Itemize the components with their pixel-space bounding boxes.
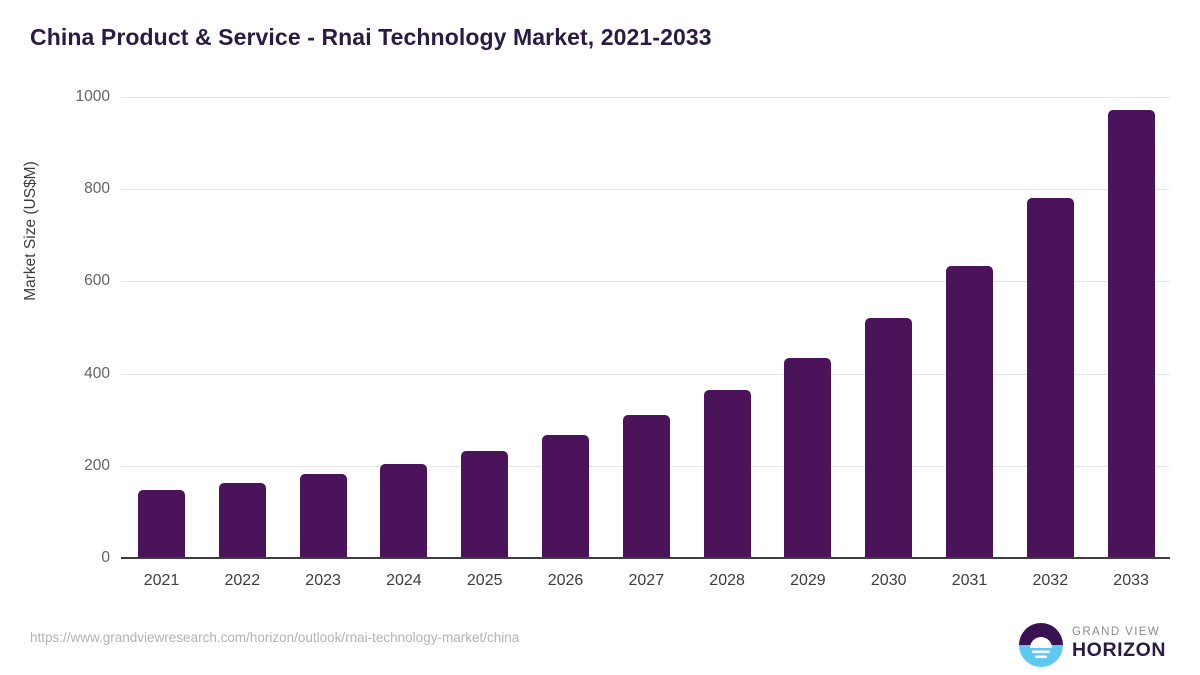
logo-line-grand-view: GRAND VIEW xyxy=(1072,625,1166,639)
x-tick-label-2023: 2023 xyxy=(283,572,363,590)
y-tick-label: 600 xyxy=(84,272,110,290)
x-tick-label-2033: 2033 xyxy=(1091,572,1171,590)
x-axis-line xyxy=(121,557,1170,559)
plot-area xyxy=(121,97,1170,558)
bar-2033[interactable] xyxy=(1108,110,1155,558)
y-tick-label: 1000 xyxy=(76,88,110,106)
grand-view-horizon-logo[interactable]: GRAND VIEW HORIZON xyxy=(1018,622,1170,668)
x-tick-label-2021: 2021 xyxy=(122,572,202,590)
bar-2022[interactable] xyxy=(219,483,266,558)
x-tick-label-2027: 2027 xyxy=(606,572,686,590)
page-title: China Product & Service - Rnai Technolog… xyxy=(30,24,712,51)
bar-2032[interactable] xyxy=(1027,198,1074,558)
gridline xyxy=(121,97,1170,98)
x-tick-label-2029: 2029 xyxy=(768,572,848,590)
x-tick-label-2024: 2024 xyxy=(364,572,444,590)
bar-2031[interactable] xyxy=(946,266,993,558)
x-tick-label-2030: 2030 xyxy=(849,572,929,590)
y-tick-label: 200 xyxy=(84,457,110,475)
bar-2029[interactable] xyxy=(784,358,831,558)
bar-2025[interactable] xyxy=(461,451,508,558)
x-tick-label-2022: 2022 xyxy=(202,572,282,590)
bar-2024[interactable] xyxy=(380,464,427,558)
y-axis-title: Market Size (US$M) xyxy=(22,31,40,431)
gridline xyxy=(121,374,1170,375)
bar-2021[interactable] xyxy=(138,490,185,558)
x-tick-label-2032: 2032 xyxy=(1010,572,1090,590)
y-tick-label: 400 xyxy=(84,365,110,383)
x-tick-label-2028: 2028 xyxy=(687,572,767,590)
y-tick-label: 800 xyxy=(84,180,110,198)
logo-line-horizon: HORIZON xyxy=(1072,639,1166,662)
x-tick-label-2025: 2025 xyxy=(445,572,525,590)
bar-2026[interactable] xyxy=(542,435,589,558)
bar-2030[interactable] xyxy=(865,318,912,558)
bar-2028[interactable] xyxy=(704,390,751,558)
x-tick-label-2031: 2031 xyxy=(930,572,1010,590)
source-url[interactable]: https://www.grandviewresearch.com/horizo… xyxy=(30,630,519,645)
gridline xyxy=(121,189,1170,190)
gridline xyxy=(121,281,1170,282)
logo-wordmark: GRAND VIEW HORIZON xyxy=(1072,625,1166,662)
bar-2027[interactable] xyxy=(623,415,670,558)
horizon-mark-icon xyxy=(1018,622,1064,668)
y-axis-tick-labels: 02004006008001000 xyxy=(55,97,110,558)
x-tick-label-2026: 2026 xyxy=(526,572,606,590)
y-tick-label: 0 xyxy=(101,549,110,567)
chart-page: China Product & Service - Rnai Technolog… xyxy=(0,0,1200,675)
bar-2023[interactable] xyxy=(300,474,347,558)
